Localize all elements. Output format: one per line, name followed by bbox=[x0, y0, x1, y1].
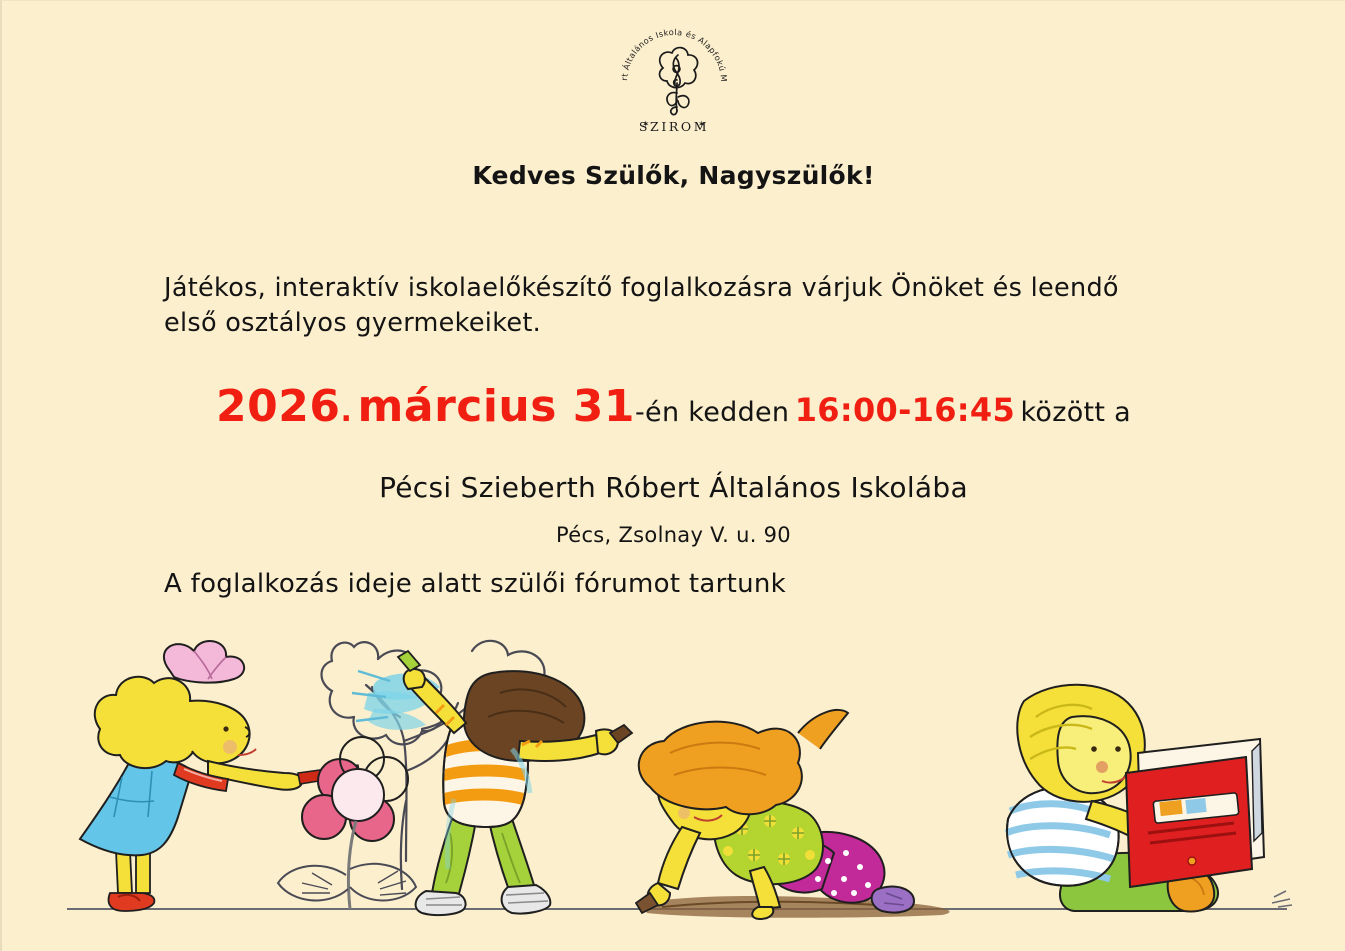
event-date-line: 2026. március 31-én kedden 16:00-16:45 k… bbox=[2, 381, 1345, 432]
event-date-tail: között a bbox=[1020, 397, 1131, 428]
event-year-dot: . bbox=[340, 394, 352, 429]
poster-canvas: Szieberth Róbert Általános Iskola és Ala… bbox=[0, 0, 1345, 951]
flower bbox=[278, 737, 416, 909]
intro-paragraph: Játékos, interaktív iskolaelőkészítő fog… bbox=[164, 271, 1164, 341]
boy-painting-tree bbox=[352, 651, 632, 915]
event-year: 2026 bbox=[216, 381, 340, 432]
event-date-suffix: -én kedden bbox=[635, 397, 789, 428]
parent-forum-note: A foglalkozás ideje alatt szülői fórumot… bbox=[164, 569, 786, 599]
svg-text:✶: ✶ bbox=[642, 120, 650, 130]
child-reading-book bbox=[1006, 685, 1292, 912]
event-month-day: március 31 bbox=[358, 381, 635, 432]
svg-text:✶: ✶ bbox=[698, 120, 706, 130]
school-seal-flower-treble-clef-icon: Szieberth Róbert Általános Iskola és Ala… bbox=[615, 23, 733, 141]
school-name: Pécsi Szieberth Róbert Általános Iskoláb… bbox=[2, 471, 1345, 504]
school-address: Pécs, Zsolnay V. u. 90 bbox=[2, 523, 1345, 547]
four-children-painting-illustration bbox=[2, 621, 1345, 951]
page-title: Kedves Szülők, Nagyszülők! bbox=[2, 161, 1345, 190]
ground-scribble bbox=[1272, 891, 1292, 907]
school-logo: Szieberth Róbert Általános Iskola és Ala… bbox=[2, 23, 1345, 141]
red-book bbox=[1126, 739, 1264, 887]
event-time: 16:00-16:45 bbox=[795, 391, 1015, 429]
illustration-svg bbox=[2, 621, 1345, 951]
girl-painting-ground bbox=[636, 710, 914, 919]
